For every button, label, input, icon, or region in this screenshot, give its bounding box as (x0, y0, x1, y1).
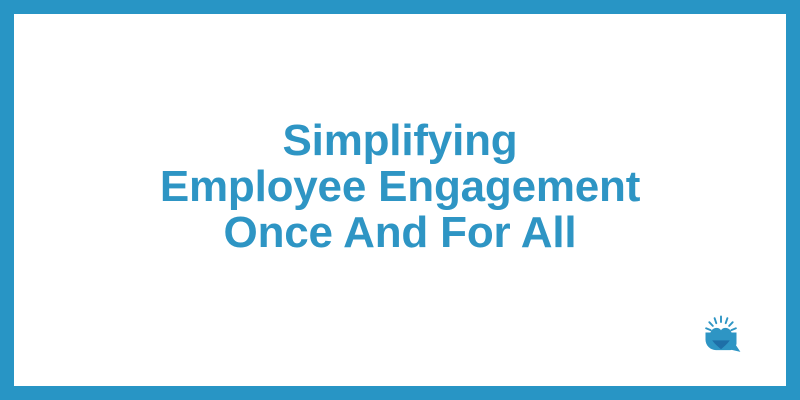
headline-line-3: Once And For All (0, 210, 800, 256)
speech-bubble-heart-logo (698, 313, 744, 359)
headline-line-1: Simplifying (0, 118, 800, 164)
border-top (0, 0, 800, 14)
ray-lines-icon (706, 317, 736, 331)
banner-canvas: Simplifying Employee Engagement Once And… (0, 0, 800, 400)
border-bottom (0, 386, 800, 400)
headline-line-2: Employee Engagement (0, 164, 800, 210)
headline: Simplifying Employee Engagement Once And… (0, 118, 800, 256)
